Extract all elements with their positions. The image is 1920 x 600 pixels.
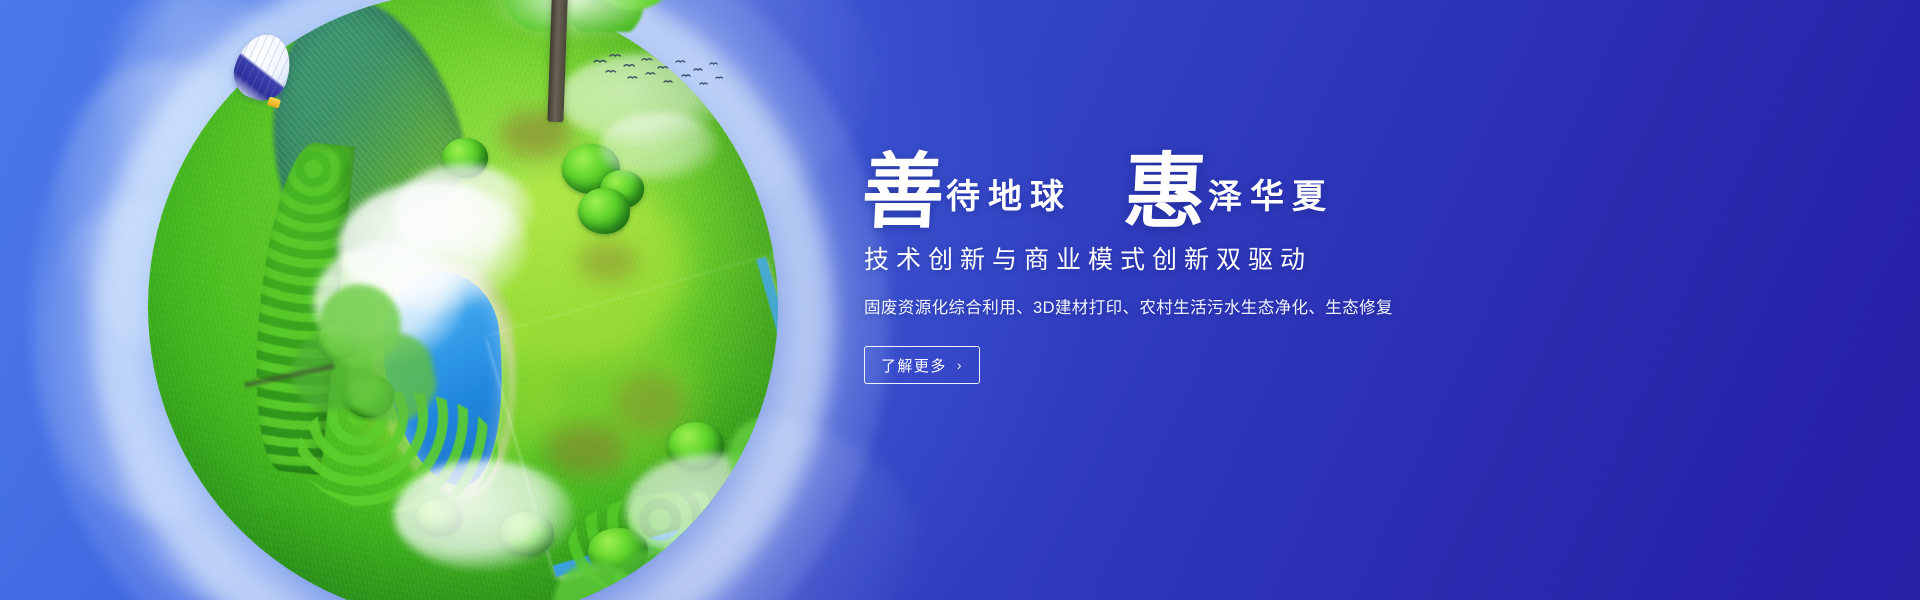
hero-copy: 善 待地球 惠 泽华夏 技术创新与商业模式创新双驱动 固废资源化综合利用、3D建… (862, 134, 1482, 384)
surface-cloud (394, 164, 534, 260)
side-tree (224, 259, 451, 494)
surface-cloud (394, 460, 574, 570)
learn-more-label: 了解更多 (881, 355, 947, 376)
bottom-tree (548, 532, 708, 600)
balloon-ribs (227, 27, 299, 106)
hero-tree-mist (484, 0, 664, 42)
hero-banner: 善 待地球 惠 泽华夏 技术创新与商业模式创新双驱动 固废资源化综合利用、3D建… (0, 0, 1920, 600)
soil-patch (578, 242, 638, 282)
learn-more-button[interactable]: 了解更多 › (864, 346, 980, 384)
bird-flock (588, 48, 728, 92)
tree-clump (578, 188, 630, 234)
description: 固废资源化综合利用、3D建材打印、农村生活污水生态净化、生态修复 (864, 294, 1482, 318)
hero-tree-trunk (547, 0, 568, 122)
headline-brush-char-1: 善 (860, 155, 946, 230)
headline-small-text-1: 待地球 (946, 169, 1072, 230)
page-title: 善 待地球 惠 泽华夏 (862, 134, 1482, 230)
headline-brush-char-2: 惠 (1122, 155, 1208, 230)
hot-air-balloon (236, 34, 292, 126)
headline-small-text-2: 泽华夏 (1208, 169, 1334, 230)
bottom-tree-canopy (548, 532, 708, 600)
subtitle: 技术创新与商业模式创新双驱动 (864, 240, 1482, 276)
chevron-right-icon: › (957, 357, 963, 373)
